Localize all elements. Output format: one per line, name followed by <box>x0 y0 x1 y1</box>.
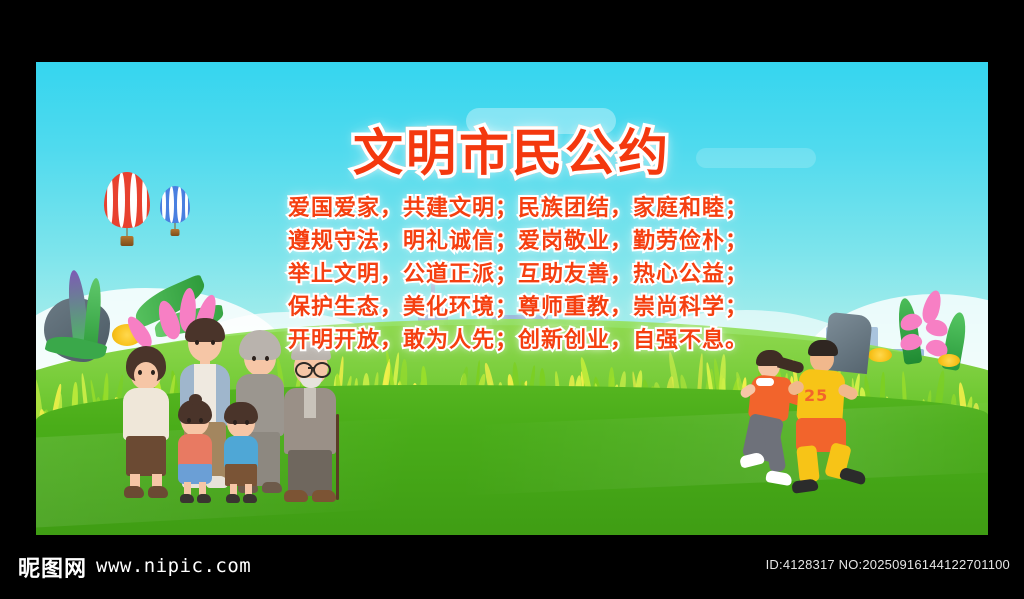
pledge-line: 爱国爱家，共建文明；民族团结，家庭和睦； <box>36 198 988 220</box>
pledge-line: 开明开放，敢为人先；创新创业，自强不息。 <box>36 330 988 352</box>
pledge-line: 保护生态，美化环境；尊师重教，崇尚科学； <box>36 297 988 319</box>
watermark-bar: 昵图网 www.nipic.com ID:4128317 NO:20250916… <box>0 535 1024 599</box>
page-title-text: 文明市民公约 <box>353 124 671 182</box>
page-title: 文明市民公约 <box>36 128 988 178</box>
pledge-lines: 爱国爱家，共建文明；民族团结，家庭和睦； 遵规守法，明礼诚信；爱岗敬业，勤劳俭朴… <box>36 198 988 363</box>
figure-mother <box>118 344 176 500</box>
asset-id-text: ID:4128317 NO:20250916144122701100 <box>766 557 1010 572</box>
pledge-line: 举止文明，公道正派；互助友善，热心公益； <box>36 264 988 286</box>
figure-boy <box>220 398 262 506</box>
site-url: www.nipic.com <box>96 555 251 577</box>
pledge-line: 遵规守法，明礼诚信；爱岗敬业，勤劳俭朴； <box>36 231 988 253</box>
site-logo: 昵图网 <box>18 551 87 583</box>
poster-canvas: 25 文明市民公约 爱国爱家，共建文明；民族团结，家庭和睦； 遵规守法，明礼诚信… <box>36 62 988 535</box>
jersey-number: 25 <box>804 386 834 404</box>
screenshot-root: 25 文明市民公约 爱国爱家，共建文明；民族团结，家庭和睦； 遵规守法，明礼诚信… <box>0 0 1024 599</box>
figure-girl <box>174 396 216 506</box>
